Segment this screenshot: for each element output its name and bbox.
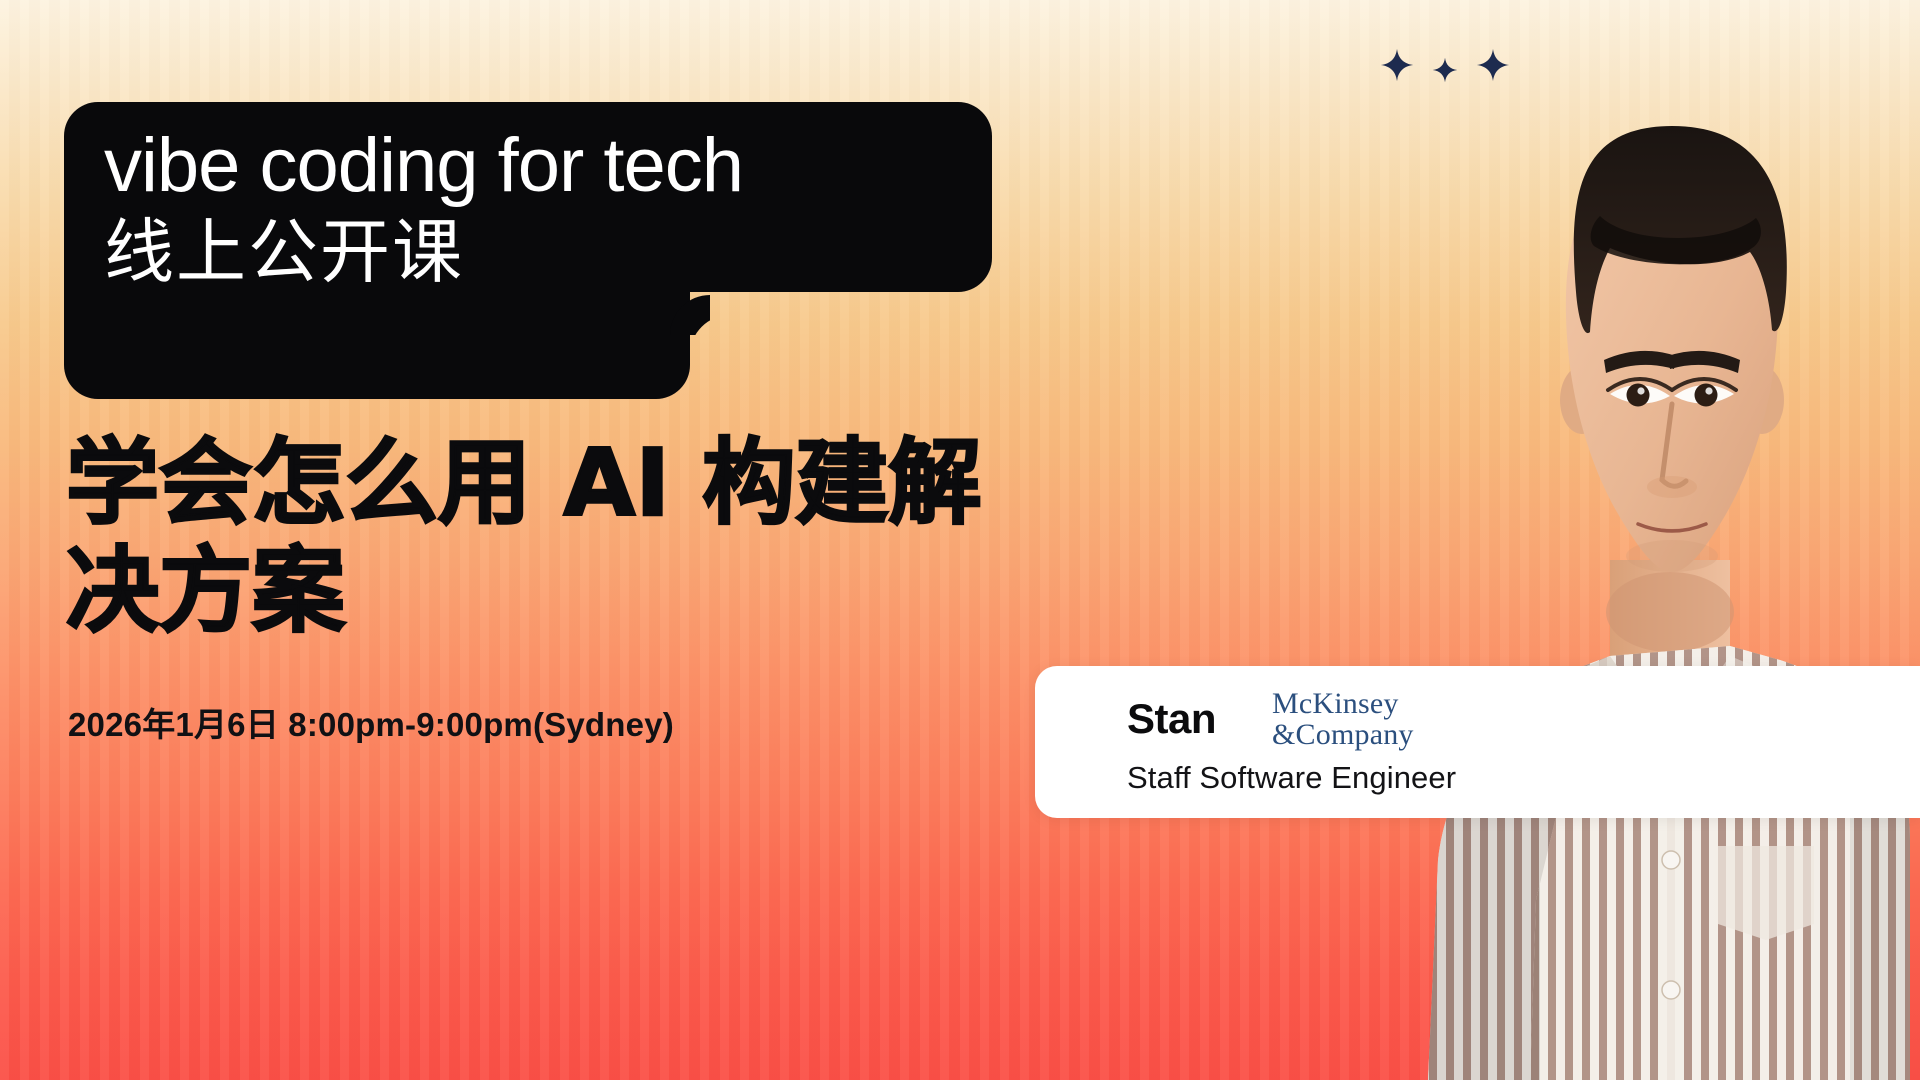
headline-line-2: 决方案 [66, 538, 1026, 646]
headline-line-1: 学会怎么用 AI 构建解 [66, 430, 1026, 538]
headline: 学会怎么用 AI 构建解 决方案 [66, 430, 1026, 646]
sparkle-icon [1433, 58, 1458, 83]
logo-line-1: McKinsey [1272, 688, 1414, 719]
speaker-job-title: Staff Software Engineer [1127, 760, 1920, 796]
bubble-line-chinese: 线上公开课 [104, 211, 964, 294]
event-datetime: 2026年1月6日 8:00pm-9:00pm(Sydney) [68, 698, 674, 746]
speaker-name: Stan [1127, 695, 1216, 743]
speaker-portrait-photo [1360, 0, 1920, 1080]
speaker-info-card: Stan McKinsey &Company Staff Software En… [1035, 666, 1920, 818]
sparkle-decoration-group [1380, 36, 1510, 96]
speaker-card-content: Stan McKinsey &Company Staff Software En… [1035, 666, 1920, 818]
bubble-text-block: vibe coding for tech 线上公开课 [104, 126, 964, 293]
bubble-inner-corner [690, 315, 730, 355]
mckinsey-company-logo: McKinsey &Company [1272, 688, 1414, 750]
speaker-name-and-logo-row: Stan McKinsey &Company [1127, 688, 1920, 750]
logo-line-2: &Company [1272, 719, 1414, 750]
sparkle-icon [1477, 49, 1509, 81]
sparkle-icon [1381, 49, 1413, 81]
webinar-promo-banner: vibe coding for tech 线上公开课 学会怎么用 AI 构建解 … [0, 0, 1920, 1080]
topic-speech-bubble: vibe coding for tech 线上公开课 [64, 102, 992, 399]
bubble-line-english: vibe coding for tech [104, 126, 964, 207]
